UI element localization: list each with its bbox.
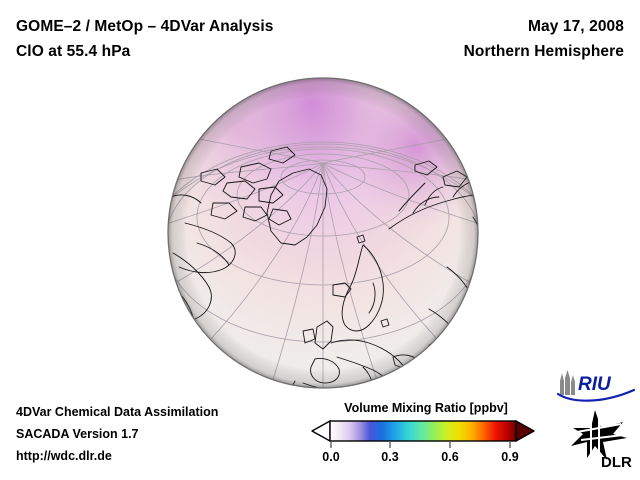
dlr-logo: DLR bbox=[565, 408, 637, 470]
riu-tower-icon bbox=[560, 370, 575, 395]
globe-map bbox=[167, 77, 479, 389]
dlr-mark-icon bbox=[571, 410, 627, 460]
colorbar-tick-3: 0.9 bbox=[490, 450, 530, 464]
dlr-wordmark: DLR bbox=[601, 454, 632, 470]
date-label: May 17, 2008 bbox=[324, 14, 624, 39]
credit-line-version: SACADA Version 1.7 bbox=[16, 423, 316, 445]
riu-wordmark: RIU bbox=[578, 374, 612, 395]
page-title: GOME–2 / MetOp – 4DVar Analysis bbox=[16, 14, 376, 39]
header-left: GOME–2 / MetOp – 4DVar Analysis ClO at 5… bbox=[16, 14, 376, 64]
colorbar-ticks bbox=[331, 441, 510, 448]
riu-logo: RIU bbox=[556, 369, 636, 405]
colorbar-low-cap bbox=[312, 421, 330, 441]
hemisphere-label: Northern Hemisphere bbox=[324, 39, 624, 64]
credits-block: 4DVar Chemical Data Assimilation SACADA … bbox=[16, 401, 316, 467]
colorbar-tick-1: 0.3 bbox=[370, 450, 410, 464]
colorbar: Volume Mixing Ratio [ppbv] bbox=[304, 400, 548, 472]
page-subtitle: ClO at 55.4 hPa bbox=[16, 39, 376, 64]
colorbar-bar bbox=[330, 421, 516, 441]
colorbar-tick-0: 0.0 bbox=[311, 450, 351, 464]
colorbar-title: Volume Mixing Ratio [ppbv] bbox=[304, 400, 548, 416]
colorbar-gradient bbox=[304, 419, 548, 449]
header-right: May 17, 2008 Northern Hemisphere bbox=[324, 14, 624, 64]
credit-line-url[interactable]: http://wdc.dlr.de bbox=[16, 445, 316, 467]
colorbar-high-cap bbox=[516, 421, 534, 441]
colorbar-tick-2: 0.6 bbox=[430, 450, 470, 464]
globe-limb-shading bbox=[168, 78, 478, 388]
credit-line-assimilation: 4DVar Chemical Data Assimilation bbox=[16, 401, 316, 423]
